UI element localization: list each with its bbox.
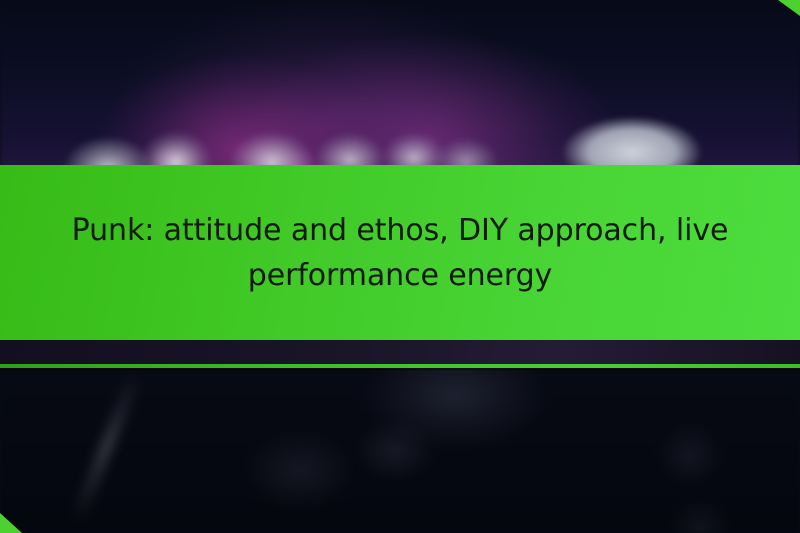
page-title: Punk: attitude and ethos, DIY approach, … <box>70 208 730 298</box>
title-banner: Punk: attitude and ethos, DIY approach, … <box>0 165 800 340</box>
corner-accent-bottom-left-icon <box>0 513 22 533</box>
banner-under-strip <box>0 340 800 364</box>
corner-accent-top-right-icon <box>778 0 800 16</box>
divider-shadow <box>0 368 800 371</box>
screenshot-canvas: Punk: attitude and ethos, DIY approach, … <box>0 0 800 533</box>
